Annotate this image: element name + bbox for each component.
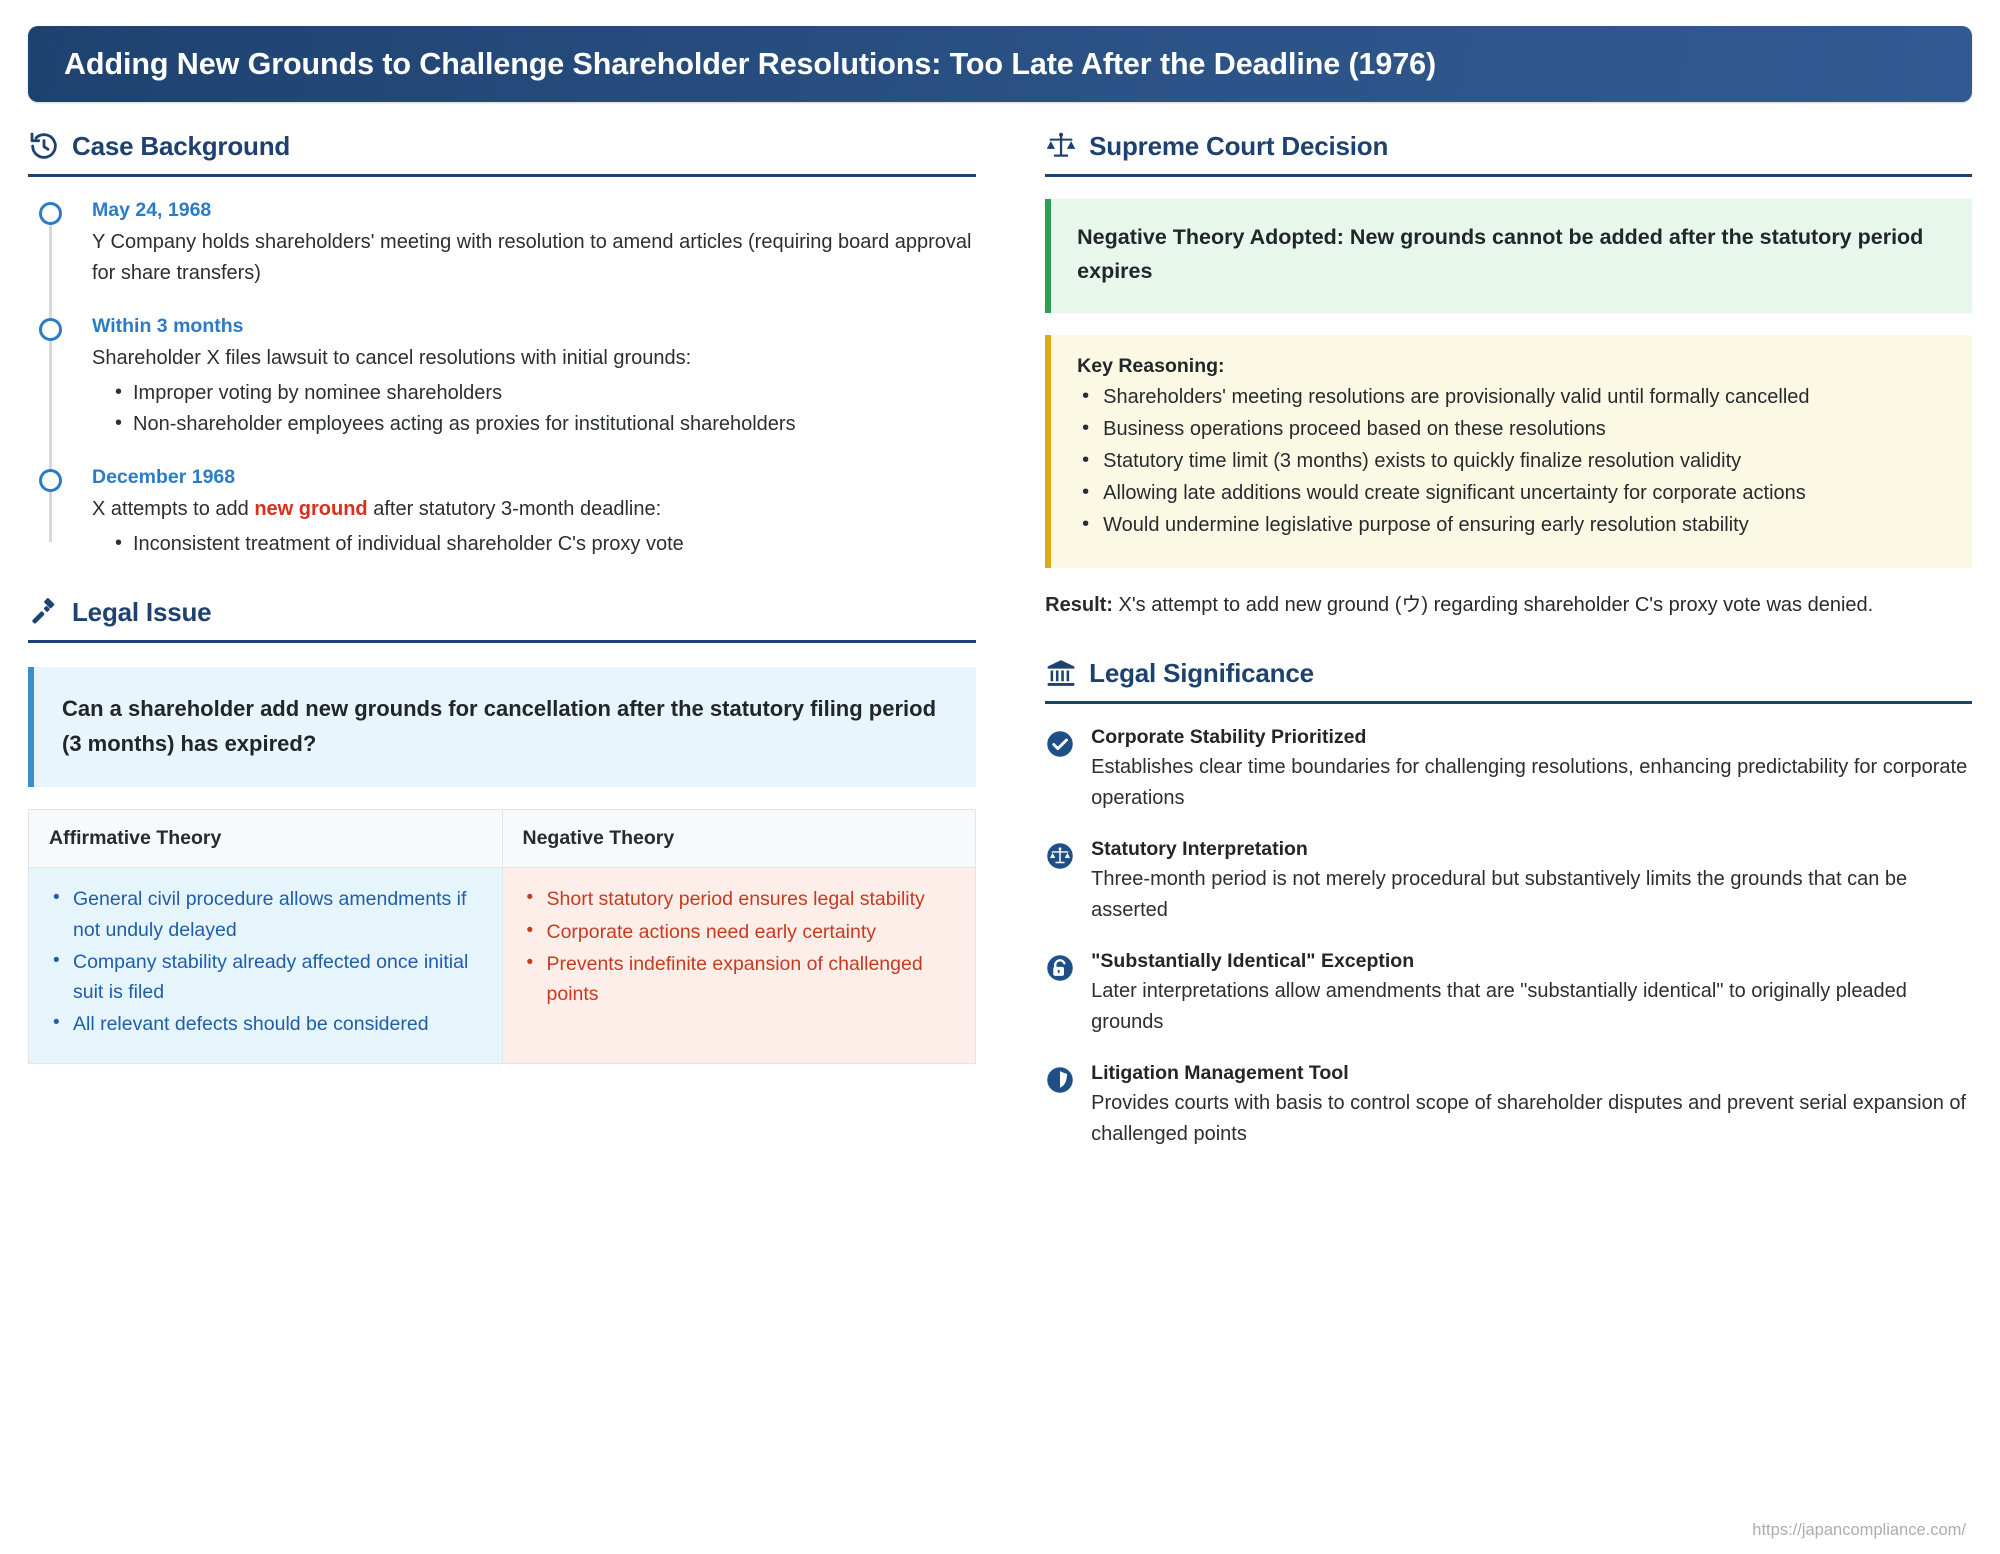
two-column-body: Case Background May 24, 1968 Y Company h… <box>28 130 1972 1150</box>
list-item: Corporate actions need early certainty <box>523 917 956 947</box>
list-item: Would undermine legislative purpose of e… <box>1077 510 1946 541</box>
table-row: General civil procedure allows amendment… <box>29 868 976 1064</box>
bank-institution-icon <box>1045 657 1077 689</box>
list-item: Inconsistent treatment of individual sha… <box>119 529 976 560</box>
significance-body: Statutory Interpretation Three-month per… <box>1091 838 1972 926</box>
timeline-date: Within 3 months <box>92 315 976 338</box>
section-header-legal-significance: Legal Significance <box>1045 657 1972 704</box>
cell-affirmative-arguments: General civil procedure allows amendment… <box>29 868 503 1064</box>
section-header-case-background: Case Background <box>28 130 976 177</box>
gavel-icon <box>28 596 60 628</box>
key-reasoning-box: Key Reasoning: Shareholders' meeting res… <box>1045 335 1972 568</box>
significance-list: Corporate Stability Prioritized Establis… <box>1045 726 1972 1150</box>
page-title: Adding New Grounds to Challenge Sharehol… <box>64 47 1436 82</box>
significance-item: Corporate Stability Prioritized Establis… <box>1045 726 1972 814</box>
right-column: Supreme Court Decision Negative Theory A… <box>1045 130 1972 1150</box>
balance-scale-icon <box>1045 130 1077 162</box>
table-header-row: Affirmative Theory Negative Theory <box>29 810 976 868</box>
timeline-bullet-list: Improper voting by nominee shareholders … <box>92 378 976 440</box>
list-item: Shareholders' meeting resolutions are pr… <box>1077 382 1946 413</box>
column-header-negative: Negative Theory <box>502 810 976 868</box>
significance-desc: Establishes clear time boundaries for ch… <box>1091 752 1972 814</box>
list-item: Improper voting by nominee shareholders <box>119 378 976 409</box>
section-header-supreme-court-decision: Supreme Court Decision <box>1045 130 1972 177</box>
timeline-text: Shareholder X files lawsuit to cancel re… <box>92 343 976 374</box>
case-timeline: May 24, 1968 Y Company holds shareholder… <box>28 199 976 560</box>
section-title: Legal Issue <box>72 597 211 628</box>
column-gap <box>986 130 1045 1150</box>
list-item: General civil procedure allows amendment… <box>49 884 482 944</box>
result-paragraph: Result: X's attempt to add new ground (ウ… <box>1045 590 1972 621</box>
list-item: Company stability already affected once … <box>49 947 482 1007</box>
timeline-date: December 1968 <box>92 466 976 489</box>
cell-negative-arguments: Short statutory period ensures legal sta… <box>502 868 976 1064</box>
section-title: Legal Significance <box>1089 658 1314 689</box>
list-item: Short statutory period ensures legal sta… <box>523 884 956 914</box>
timeline-text: X attempts to add new ground after statu… <box>92 494 976 525</box>
infographic-page: Adding New Grounds to Challenge Sharehol… <box>0 0 2000 1554</box>
significance-title: "Substantially Identical" Exception <box>1091 950 1972 973</box>
timeline-item: Within 3 months Shareholder X files laws… <box>92 315 976 440</box>
list-item: Allowing late additions would create sig… <box>1077 478 1946 509</box>
timeline-text-highlight: new ground <box>254 498 367 520</box>
significance-title: Litigation Management Tool <box>1091 1062 1972 1085</box>
timeline-bullet-list: Inconsistent treatment of individual sha… <box>92 529 976 560</box>
balance-scale-circle-icon <box>1045 841 1075 871</box>
significance-item: Statutory Interpretation Three-month per… <box>1045 838 1972 926</box>
negative-list: Short statutory period ensures legal sta… <box>523 884 956 1009</box>
list-item: Statutory time limit (3 months) exists t… <box>1077 446 1946 477</box>
theory-comparison-table: Affirmative Theory Negative Theory Gener… <box>28 809 976 1064</box>
result-text: X's attempt to add new ground (ウ) regard… <box>1113 594 1873 616</box>
legal-issue-question-box: Can a shareholder add new grounds for ca… <box>28 667 976 787</box>
holding-callout-box: Negative Theory Adopted: New grounds can… <box>1045 199 1972 313</box>
check-circle-icon <box>1045 729 1075 759</box>
significance-body: Corporate Stability Prioritized Establis… <box>1091 726 1972 814</box>
timeline-text-after: after statutory 3-month deadline: <box>368 498 662 520</box>
affirmative-list: General civil procedure allows amendment… <box>49 884 482 1039</box>
significance-desc: Three-month period is not merely procedu… <box>1091 864 1972 926</box>
holding-text: Negative Theory Adopted: New grounds can… <box>1077 221 1946 289</box>
significance-item: "Substantially Identical" Exception Late… <box>1045 950 1972 1038</box>
timeline-dot-icon <box>39 202 62 225</box>
legal-issue-question: Can a shareholder add new grounds for ca… <box>62 691 948 761</box>
timeline-dot-icon <box>39 469 62 492</box>
timeline-text: Y Company holds shareholders' meeting wi… <box>92 227 976 289</box>
section-header-legal-issue: Legal Issue <box>28 596 976 643</box>
significance-desc: Provides courts with basis to control sc… <box>1091 1088 1972 1150</box>
section-title: Supreme Court Decision <box>1089 131 1388 162</box>
timeline-item: May 24, 1968 Y Company holds shareholder… <box>92 199 976 289</box>
footer-url: https://japancompliance.com/ <box>1752 1521 1966 1540</box>
history-clock-icon <box>28 130 60 162</box>
list-item: Non-shareholder employees acting as prox… <box>119 409 976 440</box>
result-label: Result: <box>1045 594 1113 616</box>
significance-desc: Later interpretations allow amendments t… <box>1091 976 1972 1038</box>
section-title: Case Background <box>72 131 290 162</box>
significance-item: Litigation Management Tool Provides cour… <box>1045 1062 1972 1150</box>
left-column: Case Background May 24, 1968 Y Company h… <box>28 130 986 1150</box>
list-item: Business operations proceed based on the… <box>1077 414 1946 445</box>
significance-body: Litigation Management Tool Provides cour… <box>1091 1062 1972 1150</box>
timeline-item: December 1968 X attempts to add new grou… <box>92 466 976 560</box>
list-item: Prevents indefinite expansion of challen… <box>523 949 956 1009</box>
timeline-text-before: X attempts to add <box>92 498 254 520</box>
key-reasoning-list: Shareholders' meeting resolutions are pr… <box>1077 382 1946 541</box>
list-item: All relevant defects should be considere… <box>49 1009 482 1039</box>
timeline-dot-icon <box>39 318 62 341</box>
significance-body: "Substantially Identical" Exception Late… <box>1091 950 1972 1038</box>
key-reasoning-label: Key Reasoning: <box>1077 355 1946 378</box>
significance-title: Statutory Interpretation <box>1091 838 1972 861</box>
page-title-bar: Adding New Grounds to Challenge Sharehol… <box>28 26 1972 102</box>
significance-title: Corporate Stability Prioritized <box>1091 726 1972 749</box>
column-header-affirmative: Affirmative Theory <box>29 810 503 868</box>
timeline-date: May 24, 1968 <box>92 199 976 222</box>
unlock-circle-icon <box>1045 953 1075 983</box>
shield-circle-icon <box>1045 1065 1075 1095</box>
